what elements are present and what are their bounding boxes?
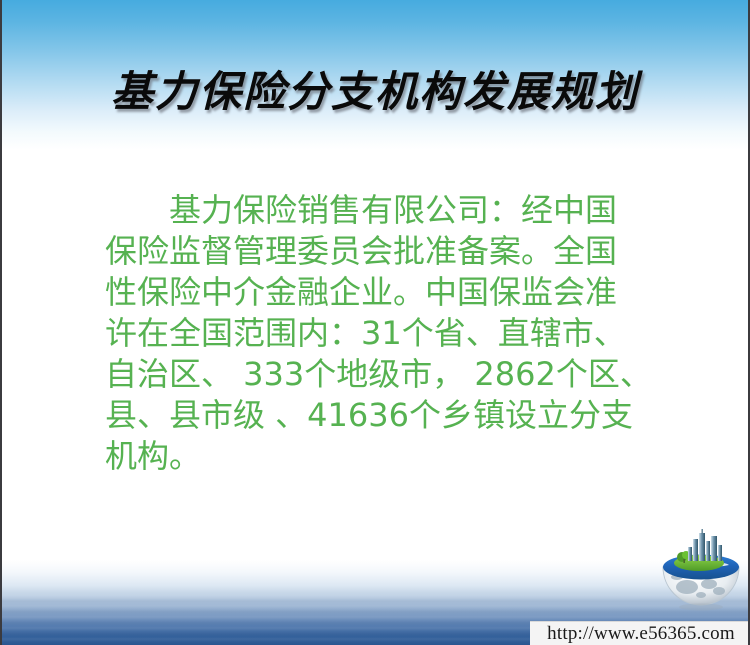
slide-title: 基力保险分支机构发展规划 [2, 58, 748, 119]
watermark-url: http://www.e56365.com [547, 623, 735, 645]
body-line: 县、县市级 、41636个乡镇设立分支 [105, 395, 665, 436]
body-line: 许在全国范围内：31个省、直辖市、 [105, 313, 665, 354]
slide-body-text: 基力保险销售有限公司：经中国 保险监督管理委员会批准备案。全国 性保险中介金融企… [105, 190, 665, 477]
globe-city-icon [657, 527, 745, 615]
body-line: 保险监督管理委员会批准备案。全国 [105, 231, 665, 272]
presentation-slide: 基力保险分支机构发展规划 基力保险销售有限公司：经中国 保险监督管理委员会批准备… [0, 0, 750, 645]
globe-shadow [679, 604, 723, 611]
body-line-text: 基力保险销售有限公司：经中国 [169, 191, 617, 229]
globe-buildings [688, 529, 722, 561]
body-line: 机构。 [105, 436, 665, 477]
body-line: 基力保险销售有限公司：经中国 [105, 190, 665, 231]
body-line: 自治区、 333个地级市， 2862个区、 [105, 354, 665, 395]
body-line: 性保险中介金融企业。中国保监会准 [105, 272, 665, 313]
watermark-banner: http://www.e56365.com [530, 621, 750, 645]
